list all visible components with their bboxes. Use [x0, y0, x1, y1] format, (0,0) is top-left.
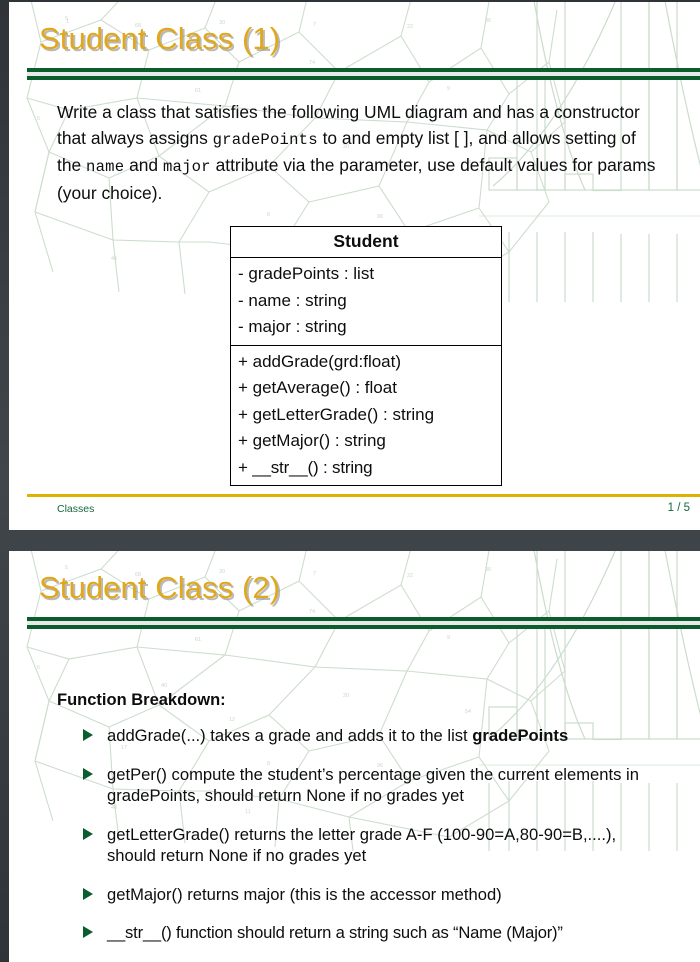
- slide-1-content: Write a class that satisfies the followi…: [9, 86, 700, 530]
- uml-attribute-row: - name : string: [238, 288, 501, 315]
- uml-method-row: + getMajor() : string: [238, 428, 501, 455]
- uml-methods-section: + addGrade(grd:float) + getAverage() : f…: [231, 346, 501, 486]
- triangle-bullet-icon: [83, 729, 93, 741]
- list-item-text: getLetterGrade() returns the letter grad…: [107, 825, 616, 866]
- footer-section-label: Classes: [57, 503, 94, 515]
- uml-class-diagram: Student - gradePoints : list - name : st…: [230, 226, 502, 486]
- slide-1-footer: Classes 1 / 5: [9, 494, 700, 530]
- slide-1-title-band: Student Class (1): [9, 2, 700, 86]
- function-breakdown-list: addGrade(...) takes a grade and adds it …: [79, 725, 669, 961]
- list-item-text: getMajor() returns major (this is the ac…: [107, 885, 502, 904]
- title-rule-bottom: [27, 625, 700, 629]
- uml-method-row: + getAverage() : float: [238, 375, 501, 402]
- list-item: __str__() function should return a strin…: [79, 922, 669, 944]
- slide-1: 5 1 68 30 7 22 36 74 3 61 9 5 40 12 20 5…: [9, 2, 700, 530]
- uml-attribute-row: - major : string: [238, 314, 501, 341]
- slide-1-paragraph: Write a class that satisfies the followi…: [57, 100, 657, 206]
- triangle-bullet-icon: [83, 828, 93, 840]
- slide-2-title-rules: [27, 617, 700, 629]
- list-item: getLetterGrade() returns the letter grad…: [79, 824, 669, 867]
- slide-1-title-rules: [27, 68, 700, 80]
- paragraph-part-3: and: [124, 155, 163, 175]
- function-breakdown-heading: Function Breakdown:: [57, 691, 226, 710]
- footer-page-number: 1 / 5: [668, 502, 690, 514]
- slide-2: 5 68 30 7 22 36 74 3 61 9 5 40 12 20 54 …: [9, 551, 700, 962]
- code-major: major: [163, 158, 211, 176]
- triangle-bullet-icon: [83, 768, 93, 780]
- uml-attributes-section: - gradePoints : list - name : string - m…: [231, 258, 501, 346]
- code-name: name: [86, 158, 124, 176]
- title-rule-bottom: [27, 76, 700, 80]
- triangle-bullet-icon: [83, 888, 93, 900]
- list-item-text: __str__() function should return a strin…: [107, 923, 563, 942]
- list-item-text: getPer() compute the student’s percentag…: [107, 765, 639, 806]
- list-item: getMajor() returns major (this is the ac…: [79, 884, 669, 906]
- uml-method-row: + __str__() : string: [238, 455, 501, 482]
- slide-2-title: Student Class (2): [39, 570, 280, 606]
- footer-rule: [27, 494, 700, 497]
- uml-method-row: + addGrade(grd:float): [238, 349, 501, 376]
- code-gradepoints: gradePoints: [213, 131, 318, 149]
- slide-2-content: Function Breakdown: addGrade(...) takes …: [9, 635, 700, 962]
- slide-1-title: Student Class (1): [39, 21, 280, 57]
- triangle-bullet-icon: [83, 926, 93, 938]
- list-item-emphasis: gradePoints: [472, 726, 568, 745]
- uml-class-name: Student: [231, 227, 501, 258]
- list-item: addGrade(...) takes a grade and adds it …: [79, 725, 669, 747]
- uml-attribute-row: - gradePoints : list: [238, 261, 501, 288]
- list-item: getPer() compute the student’s percentag…: [79, 764, 669, 807]
- list-item-text: addGrade(...) takes a grade and adds it …: [107, 726, 472, 745]
- slide-2-title-band: Student Class (2): [9, 551, 700, 635]
- uml-method-row: + getLetterGrade() : string: [238, 402, 501, 429]
